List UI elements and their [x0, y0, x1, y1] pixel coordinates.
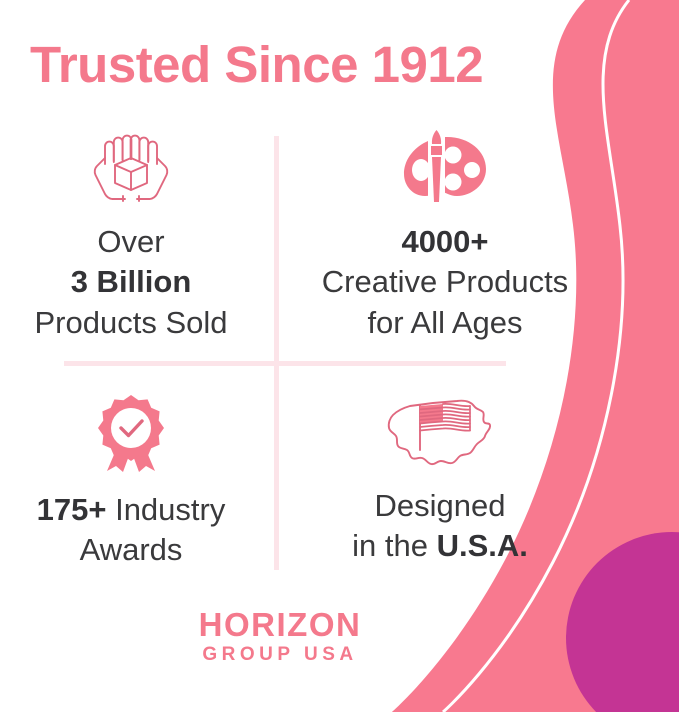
award-ribbon-check-icon — [89, 392, 173, 476]
paintbrush — [428, 128, 445, 208]
feature-text-creative-products: 4000+ Creative Products for All Ages — [322, 222, 568, 343]
feature-designed-in-usa: Designed in the U.S.A. — [290, 392, 590, 567]
page-title: Trusted Since 1912 — [30, 38, 483, 92]
usa-map-flag-icon — [379, 392, 501, 472]
feature-line: Creative Products — [322, 262, 568, 302]
feature-creative-products: 4000+ Creative Products for All Ages — [290, 124, 600, 343]
divider-vertical — [274, 136, 279, 570]
palette-thumb-hole — [412, 159, 430, 181]
brand-logo-tagline: GROUP USA — [0, 645, 560, 664]
hands-holding-box-icon — [75, 128, 187, 208]
brand-logo-name: HORIZON — [0, 608, 560, 641]
palette-well — [445, 174, 462, 191]
feature-line: Designed — [352, 486, 528, 526]
feature-line: Products Sold — [35, 303, 228, 343]
rosette-inner-disc — [111, 408, 151, 448]
feature-text-industry-awards: 175+ Industry Awards — [37, 490, 226, 571]
infographic-canvas: Trusted Since 1912 — [0, 0, 679, 712]
paint-palette-brush-icon — [391, 124, 499, 208]
feature-line: Over — [35, 222, 228, 262]
feature-line-emphasis: 175+ — [37, 492, 107, 527]
feature-line: Awards — [37, 530, 226, 570]
feature-line-rest: Industry — [115, 492, 225, 527]
feature-line: in the U.S.A. — [352, 526, 528, 566]
feature-line: for All Ages — [322, 303, 568, 343]
feature-text-products-sold: Over 3 Billion Products Sold — [35, 222, 228, 343]
brand-logo: HORIZON GROUP USA — [0, 608, 560, 664]
feature-line-emphasis: 4000+ — [322, 222, 568, 262]
feature-line-rest: in the — [352, 528, 428, 563]
feature-line-emphasis: U.S.A. — [437, 528, 528, 563]
white-hairline-stripe — [443, 0, 629, 712]
feature-industry-awards: 175+ Industry Awards — [0, 392, 262, 571]
divider-horizontal — [64, 361, 506, 366]
feature-products-sold: Over 3 Billion Products Sold — [0, 128, 262, 343]
pink-crescent-swoosh — [392, 0, 679, 712]
feature-line-emphasis: 3 Billion — [35, 262, 228, 302]
palette-well — [445, 147, 462, 164]
feature-line: 175+ Industry — [37, 490, 226, 530]
feature-text-designed-in-usa: Designed in the U.S.A. — [352, 486, 528, 567]
palette-well — [464, 162, 480, 178]
